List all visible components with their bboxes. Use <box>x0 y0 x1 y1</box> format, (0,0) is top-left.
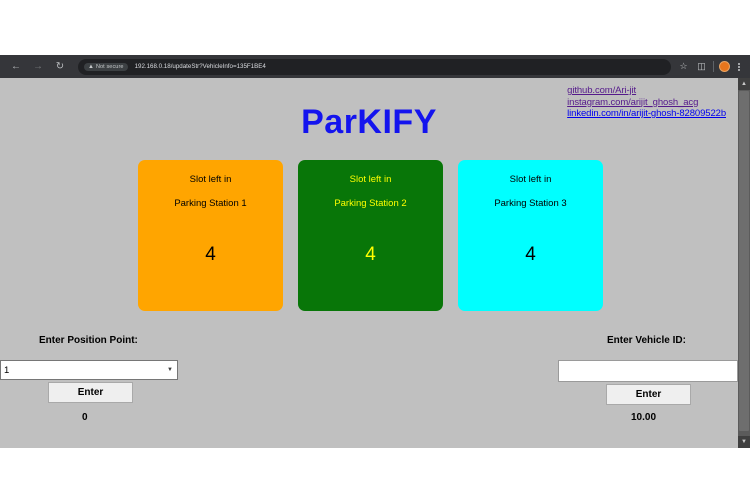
back-arrow-icon[interactable]: ← <box>6 57 26 77</box>
scrollbar-down-arrow-icon[interactable]: ▼ <box>738 436 750 448</box>
profile-avatar[interactable] <box>719 61 730 72</box>
station-card-title-line2: Parking Station 3 <box>494 198 566 210</box>
desktop-background-bottom <box>0 448 750 500</box>
station-card-title-line1: Slot left in <box>190 174 232 186</box>
page-content: github.com/Ari-jit instagram.com/arijit_… <box>0 78 738 448</box>
link-github[interactable]: github.com/Ari-jit <box>567 85 726 97</box>
warning-triangle-icon: ▲ <box>88 64 94 70</box>
browser-toolbar: ← → ↻ ▲ Not secure 192.168.0.18/updateSt… <box>0 55 750 78</box>
vehicle-enter-button[interactable]: Enter <box>606 384 691 405</box>
scrollbar-thumb[interactable] <box>739 91 749 431</box>
url-text: 192.168.0.18/updateStr?VehicleInfo=135F1… <box>135 63 266 70</box>
position-point-select[interactable]: 1 2 3 <box>0 360 178 380</box>
reload-icon[interactable]: ↻ <box>50 57 70 77</box>
station-card-1: Slot left in Parking Station 1 4 <box>138 160 283 311</box>
station-card-count: 4 <box>365 244 376 266</box>
page-title: ParKIFY <box>0 103 738 142</box>
position-result-value: 0 <box>82 412 88 423</box>
toolbar-right-actions: ☆ ◫ <box>671 58 750 75</box>
vehicle-id-input[interactable] <box>558 360 738 382</box>
station-card-2: Slot left in Parking Station 2 4 <box>298 160 443 311</box>
security-status-chip[interactable]: ▲ Not secure <box>84 63 128 71</box>
page-viewport: github.com/Ari-jit instagram.com/arijit_… <box>0 78 750 448</box>
station-cards-row: Slot left in Parking Station 1 4 Slot le… <box>138 160 603 311</box>
star-icon[interactable]: ☆ <box>675 58 692 75</box>
position-point-label: Enter Position Point: <box>39 335 138 346</box>
station-card-count: 4 <box>205 244 216 266</box>
address-bar[interactable]: ▲ Not secure 192.168.0.18/updateStr?Vehi… <box>78 59 671 75</box>
position-enter-button[interactable]: Enter <box>48 382 133 403</box>
extensions-icon[interactable]: ◫ <box>693 58 710 75</box>
station-card-title-line2: Parking Station 2 <box>334 198 406 210</box>
station-card-count: 4 <box>525 244 536 266</box>
vertical-scrollbar[interactable]: ▲ ▼ <box>738 78 750 448</box>
toolbar-divider <box>713 61 714 72</box>
forward-arrow-icon[interactable]: → <box>28 57 48 77</box>
station-card-3: Slot left in Parking Station 3 4 <box>458 160 603 311</box>
station-card-title-line2: Parking Station 1 <box>174 198 246 210</box>
vehicle-id-label: Enter Vehicle ID: <box>607 335 686 346</box>
browser-window: ← → ↻ ▲ Not secure 192.168.0.18/updateSt… <box>0 0 750 500</box>
desktop-background-top <box>0 0 750 55</box>
vehicle-result-value: 10.00 <box>631 412 656 423</box>
station-card-title-line1: Slot left in <box>350 174 392 186</box>
three-dot-menu-icon[interactable] <box>733 63 745 71</box>
security-status-label: Not secure <box>96 64 124 70</box>
station-card-title-line1: Slot left in <box>510 174 552 186</box>
scrollbar-up-arrow-icon[interactable]: ▲ <box>738 78 750 90</box>
